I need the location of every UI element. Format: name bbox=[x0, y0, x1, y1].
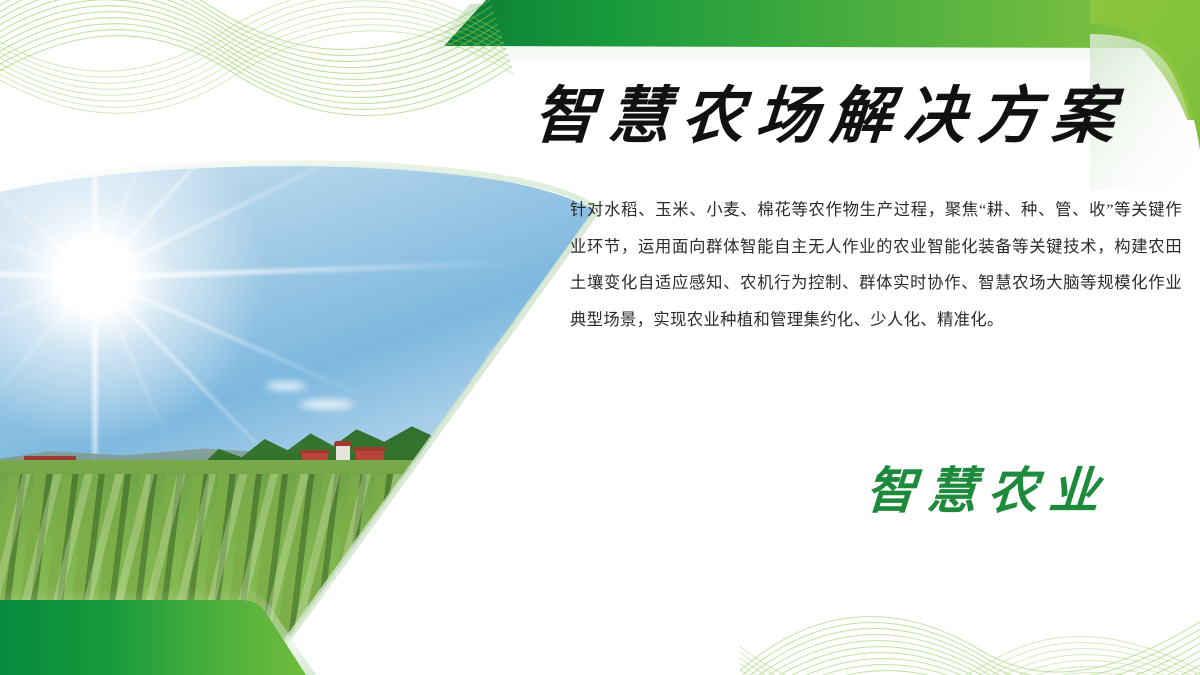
subtitle-label: 智慧农业 bbox=[864, 456, 1169, 526]
description-paragraph: 针对水稻、玉米、小麦、棉花等农作物生产过程，聚焦“耕、种、管、收”等关键作业环节… bbox=[570, 192, 1182, 338]
decorative-waves-top-left bbox=[0, 0, 530, 162]
decorative-waves-bottom-right bbox=[740, 540, 1200, 675]
hero-photo bbox=[0, 160, 620, 675]
photo-diagonal-mask bbox=[0, 160, 620, 675]
poster-canvas: 智慧农场解决方案 针对水稻、玉米、小麦、棉花等农作物生产过程，聚焦“耕、种、管、… bbox=[0, 0, 1200, 675]
page-title: 智慧农场解决方案 bbox=[463, 72, 1197, 162]
